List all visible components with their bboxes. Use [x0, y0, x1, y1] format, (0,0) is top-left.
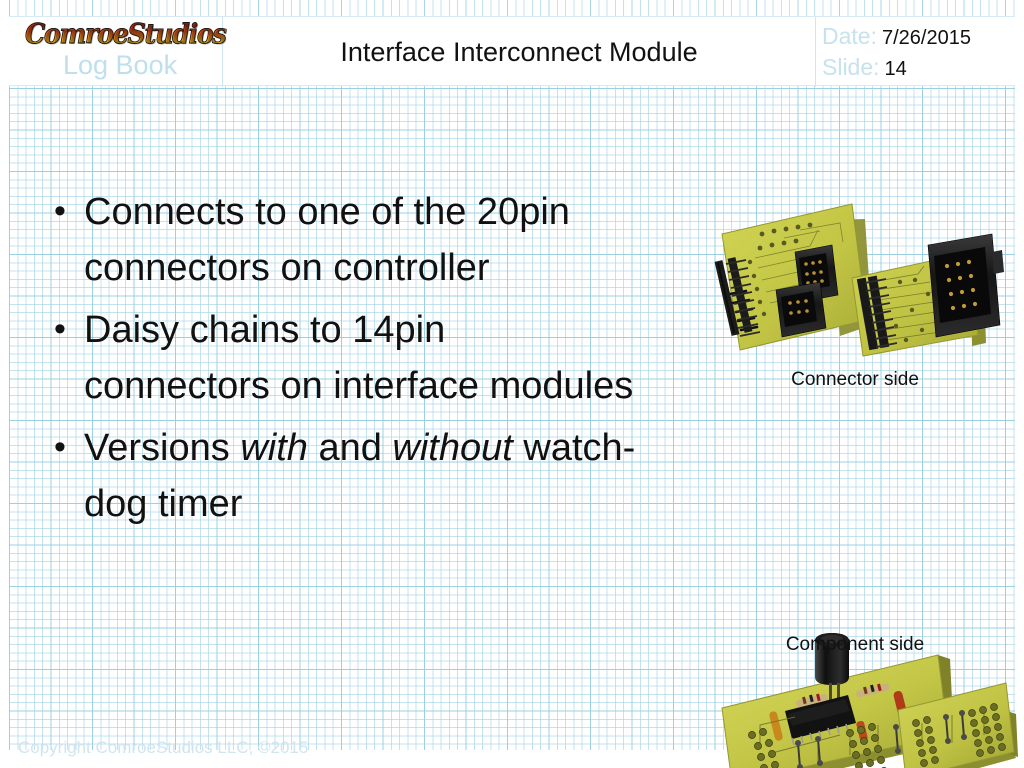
bullet-list: •Connects to one of the 20pin connectors…	[48, 184, 638, 538]
date-row: Date: 7/26/2015	[822, 23, 1015, 54]
bullet-text: Daisy chains to 14pin connectors on inte…	[84, 302, 638, 414]
bullet-text: Connects to one of the 20pin connectors …	[84, 184, 638, 296]
page-title: Interface Interconnect Module	[223, 17, 815, 87]
date-value: 7/26/2015	[882, 27, 971, 50]
slide-canvas: ComroeStudios Log Book Interface Interco…	[0, 0, 1024, 768]
photo-caption-component-side: Component side	[700, 634, 1010, 656]
bullet-item: •Versions with and without watch-dog tim…	[48, 420, 638, 532]
slide-label: Slide:	[822, 54, 880, 81]
date-label: Date:	[822, 23, 877, 50]
slide-header: ComroeStudios Log Book Interface Interco…	[9, 16, 1015, 86]
copyright-footer: Copyright ComroeStudios LLC, ©2015	[18, 738, 308, 758]
bullet-marker-icon: •	[48, 302, 84, 357]
logo-wordmark: ComroeStudios	[25, 20, 225, 50]
slide-number-value: 14	[885, 58, 907, 81]
bullet-marker-icon: •	[48, 184, 84, 239]
bullet-text: Versions with and without watch-dog time…	[84, 420, 638, 532]
brand-logo[interactable]: ComroeStudios Log Book	[15, 17, 221, 87]
slide-meta: Date: 7/26/2015 Slide: 14	[816, 17, 1015, 87]
logo-subtitle: Log Book	[63, 50, 177, 81]
photo-connector-side	[700, 190, 1024, 365]
photo-caption-connector-side: Connector side	[700, 369, 1010, 391]
slide-number-row: Slide: 14	[822, 54, 1015, 85]
bullet-marker-icon: •	[48, 420, 84, 475]
bullet-item: •Daisy chains to 14pin connectors on int…	[48, 302, 638, 414]
connector-side-illustration	[700, 190, 1024, 365]
bullet-item: •Connects to one of the 20pin connectors…	[48, 184, 638, 296]
